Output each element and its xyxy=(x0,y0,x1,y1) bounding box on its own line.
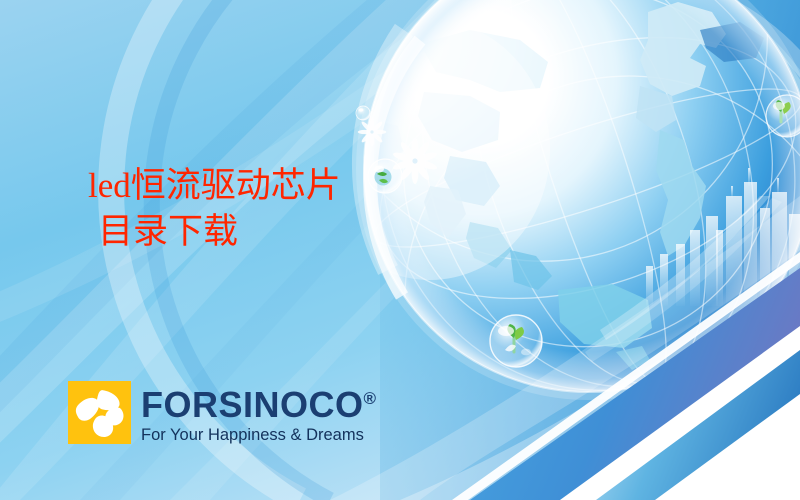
four-petal-pinwheel-icon xyxy=(68,381,131,444)
bubble-with-green-sprout xyxy=(490,315,542,367)
logo-tagline: For Your Happiness & Dreams xyxy=(141,427,377,444)
logo-wordmark-text: FORSINOCO xyxy=(141,384,364,425)
logo-wordmark: FORSINOCO® xyxy=(141,387,377,423)
logo-text-block: FORSINOCO® For Your Happiness & Dreams xyxy=(141,381,377,444)
company-logo: FORSINOCO® For Your Happiness & Dreams xyxy=(68,381,377,444)
bubble-with-green-globe xyxy=(368,159,402,193)
banner-image: led恒流驱动芯片 目录下载 FORSINOCO® For Your Happi… xyxy=(0,0,800,500)
registered-trademark-icon: ® xyxy=(364,389,377,408)
